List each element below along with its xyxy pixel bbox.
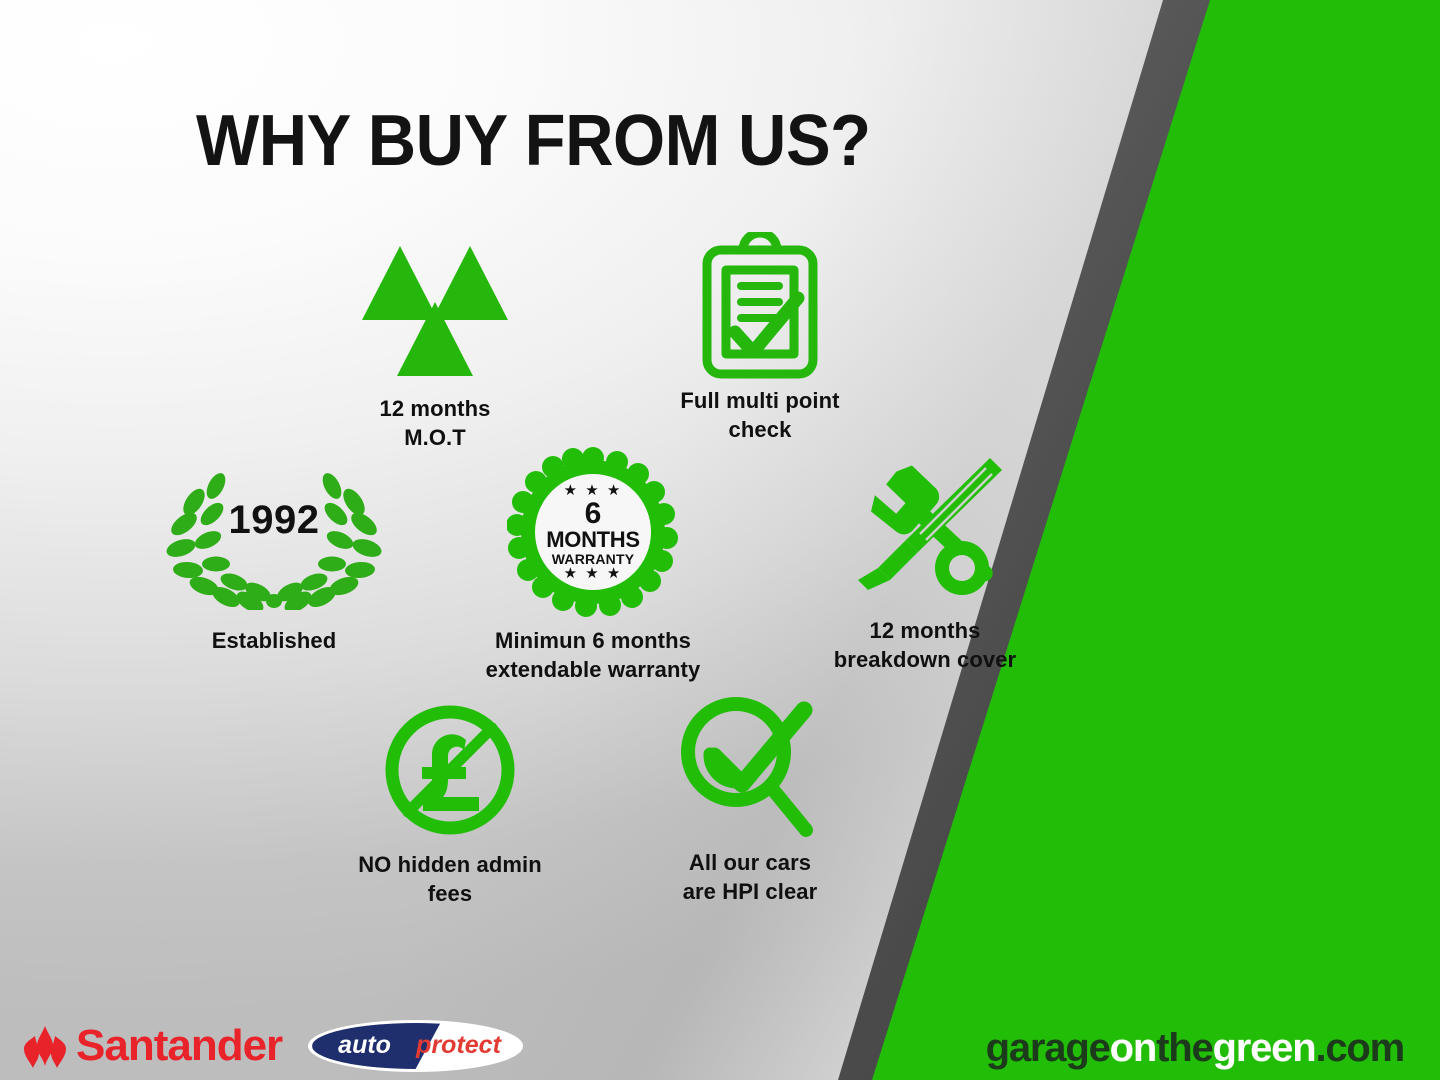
autoprotect-protect-text: protect — [416, 1029, 501, 1061]
feature-no-fees-label: NO hidden admin fees — [330, 850, 570, 908]
feature-breakdown-cover-label: 12 months breakdown cover — [800, 616, 1050, 674]
mot-triangles-icon — [330, 236, 540, 386]
santander-flame-icon — [22, 1022, 68, 1070]
warranty-number: 6 — [585, 499, 602, 529]
feature-mot-label: 12 months M.O.T — [330, 394, 540, 452]
no-pound-fees-icon — [330, 700, 570, 840]
clipboard-check-icon — [645, 232, 875, 380]
website-segment-com: .com — [1315, 1026, 1404, 1070]
website-segment-green: green — [1213, 1026, 1316, 1070]
established-year: 1992 — [160, 498, 388, 543]
page-title: WHY BUY FROM US? — [196, 100, 977, 182]
feature-warranty-label: Minimun 6 months extendable warranty — [438, 626, 748, 684]
wrench-screwdriver-icon — [800, 440, 1050, 610]
feature-breakdown-cover: 12 months breakdown cover — [800, 440, 1050, 674]
santander-wordmark: Santander — [76, 1024, 282, 1068]
website-wordmark[interactable]: garageonthegreen.com — [986, 1026, 1404, 1070]
warranty-stars-bottom: ★ ★ ★ — [564, 567, 623, 581]
magnifier-check-icon — [630, 690, 870, 840]
autoprotect-logo: auto protect — [308, 1020, 523, 1072]
feature-warranty: ★ ★ ★ 6 MONTHS WARRANTY ★ ★ ★ Minimun 6 … — [438, 446, 748, 684]
feature-established: 1992 Established — [160, 462, 388, 655]
feature-hpi-clear-label: All our cars are HPI clear — [630, 848, 870, 906]
feature-multipoint-check-label: Full multi point check — [645, 386, 875, 444]
warranty-months: MONTHS — [546, 529, 640, 551]
santander-logo: Santander — [22, 1022, 282, 1070]
website-segment-garage: garage — [986, 1026, 1110, 1070]
website-segment-on: on — [1110, 1026, 1156, 1070]
infographic-canvas: WHY BUY FROM US? 12 months M.O.T — [0, 0, 1440, 1080]
warranty-stars-top: ★ ★ ★ — [564, 484, 623, 498]
feature-no-fees: NO hidden admin fees — [330, 700, 570, 908]
feature-hpi-clear: All our cars are HPI clear — [630, 690, 870, 906]
feature-mot: 12 months M.O.T — [330, 236, 540, 452]
autoprotect-auto-text: auto — [338, 1029, 391, 1061]
feature-multipoint-check: Full multi point check — [645, 232, 875, 444]
warranty-badge-icon: ★ ★ ★ 6 MONTHS WARRANTY ★ ★ ★ — [507, 446, 679, 618]
feature-established-label: Established — [160, 626, 388, 655]
partner-logos: Santander auto protect — [22, 1020, 523, 1072]
website-segment-the: the — [1156, 1026, 1212, 1070]
